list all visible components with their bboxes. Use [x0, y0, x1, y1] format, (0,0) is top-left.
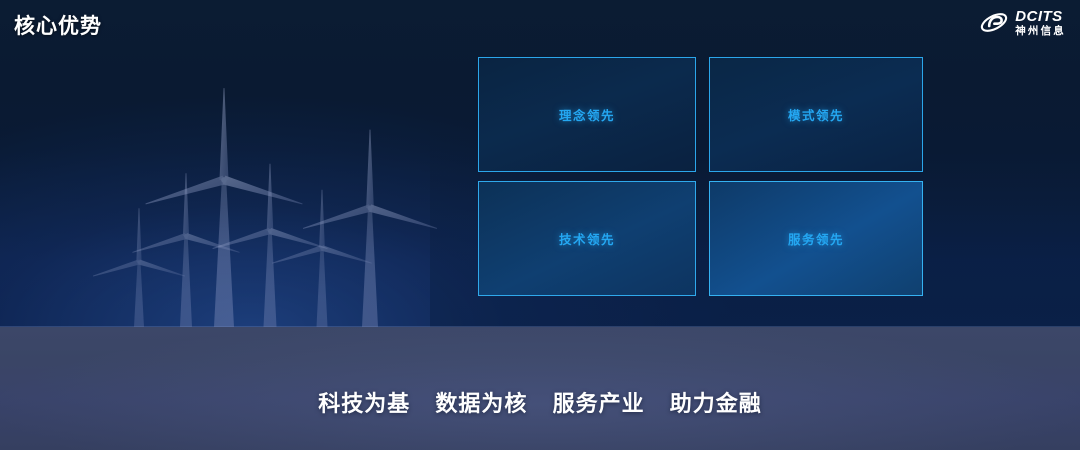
horizon-line [0, 326, 1080, 327]
card-concept-label: 理念领先 [559, 105, 615, 124]
card-service-label: 服务领先 [788, 229, 844, 248]
card-service[interactable]: 服务领先 [709, 181, 923, 296]
tagline: 科技为基 数据为核 服务产业 助力金融 [0, 386, 1080, 418]
brand-name-cn: 神州信息 [1015, 26, 1066, 37]
tagline-part-1: 科技为基 [318, 391, 410, 416]
slide-root: 核心优势 DCITS 神州信息 理念领先 模式领先 技术领先 服务领先 科技为基… [0, 0, 1080, 450]
brand-logo: DCITS 神州信息 [979, 9, 1066, 37]
brand-text: DCITS 神州信息 [1015, 9, 1066, 37]
card-concept[interactable]: 理念领先 [478, 57, 696, 172]
page-title: 核心优势 [14, 10, 102, 40]
card-model-label: 模式领先 [788, 105, 844, 124]
brand-name-en: DCITS [1015, 9, 1066, 24]
tagline-part-3: 服务产业 [553, 391, 645, 416]
card-technology[interactable]: 技术领先 [478, 181, 696, 296]
tagline-part-2: 数据为核 [435, 391, 527, 416]
dcits-orbit-icon [979, 10, 1009, 35]
card-model[interactable]: 模式领先 [709, 57, 923, 172]
card-technology-label: 技术领先 [559, 229, 615, 248]
tagline-part-4: 助力金融 [670, 391, 762, 416]
